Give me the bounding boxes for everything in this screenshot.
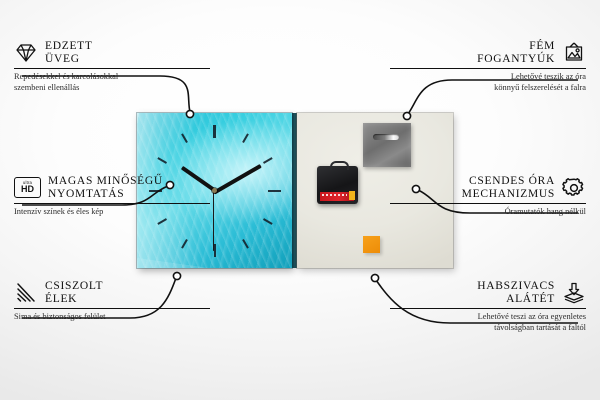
mechanism-hook bbox=[330, 161, 349, 170]
press-pad-icon bbox=[562, 282, 586, 304]
metal-hanger-plate bbox=[363, 123, 411, 167]
hanging-picture-icon bbox=[562, 42, 586, 64]
feature-divider bbox=[14, 68, 210, 69]
feature-header: HABSZIVACS ALÁTÉT bbox=[390, 280, 586, 305]
feature-header: ultra HD MAGAS MINŐSÉGŰ NYOMTATÁS bbox=[14, 175, 210, 200]
feature-description: Sima és biztonságos felület bbox=[14, 312, 210, 323]
feature-title: HABSZIVACS ALÁTÉT bbox=[477, 280, 555, 305]
feature-divider bbox=[14, 203, 210, 204]
feature-polished-edges: CSISZOLT ÉLEK Sima és biztonságos felüle… bbox=[14, 280, 210, 323]
feature-silent-mechanism: CSENDES ÓRA MECHANIZMUS Óramutatók hang … bbox=[390, 175, 586, 218]
ultra-hd-icon-large-text: HD bbox=[21, 185, 34, 194]
feature-description: Lehetővé teszi az óra egyenletes távolsá… bbox=[390, 312, 586, 333]
feature-header: CSISZOLT ÉLEK bbox=[14, 280, 210, 305]
feature-title: CSISZOLT ÉLEK bbox=[45, 280, 103, 305]
feature-description: Óramutatók hang nélkül bbox=[390, 207, 586, 218]
feature-hd-print: ultra HD MAGAS MINŐSÉGŰ NYOMTATÁS Intenz… bbox=[14, 175, 210, 218]
feature-title: EDZETT ÜVEG bbox=[45, 40, 93, 65]
clock-center-cap bbox=[212, 188, 217, 193]
feature-tempered-glass: EDZETT ÜVEG Repedésekkel és karcolásokka… bbox=[14, 40, 210, 93]
feature-description: Lehetővé teszik az óra könnyű felszerelé… bbox=[390, 72, 586, 93]
feature-header: FÉM FOGANTYÚK bbox=[390, 40, 586, 65]
feature-header: EDZETT ÜVEG bbox=[14, 40, 210, 65]
gear-icon bbox=[562, 177, 586, 199]
ultra-hd-icon: ultra HD bbox=[14, 177, 41, 198]
battery-label-tab bbox=[349, 191, 355, 200]
connector-dot-foam-backing bbox=[371, 274, 378, 281]
feature-header: CSENDES ÓRA MECHANIZMUS bbox=[390, 175, 586, 200]
feature-description: Repedésekkel és karcolásokkal szembeni e… bbox=[14, 72, 210, 93]
polished-edge-icon bbox=[14, 282, 38, 304]
clock-second-hand bbox=[213, 191, 214, 251]
battery-label bbox=[320, 192, 354, 201]
feature-title: CSENDES ÓRA MECHANIZMUS bbox=[462, 175, 555, 200]
feature-divider bbox=[390, 308, 586, 309]
feature-title: FÉM FOGANTYÚK bbox=[477, 40, 555, 65]
feature-foam-backing: HABSZIVACS ALÁTÉT Lehetővé teszi az óra … bbox=[390, 280, 586, 333]
feature-description: Intenzív színek és éles kép bbox=[14, 207, 210, 218]
feature-divider bbox=[390, 68, 586, 69]
foam-spacer-pad bbox=[363, 236, 380, 253]
feature-divider bbox=[390, 203, 586, 204]
battery-label-text bbox=[322, 194, 347, 196]
hanger-slot bbox=[373, 134, 399, 140]
feature-metal-handles: FÉM FOGANTYÚK Lehetővé teszik az óra kön… bbox=[390, 40, 586, 93]
feature-title: MAGAS MINŐSÉGŰ NYOMTATÁS bbox=[48, 175, 163, 200]
infographic-stage: EDZETT ÜVEG Repedésekkel és karcolásokka… bbox=[0, 0, 600, 400]
clock-mechanism-box bbox=[317, 166, 358, 204]
feature-divider bbox=[14, 308, 210, 309]
diamond-icon bbox=[14, 42, 38, 64]
clock-minute-hand bbox=[213, 164, 262, 194]
